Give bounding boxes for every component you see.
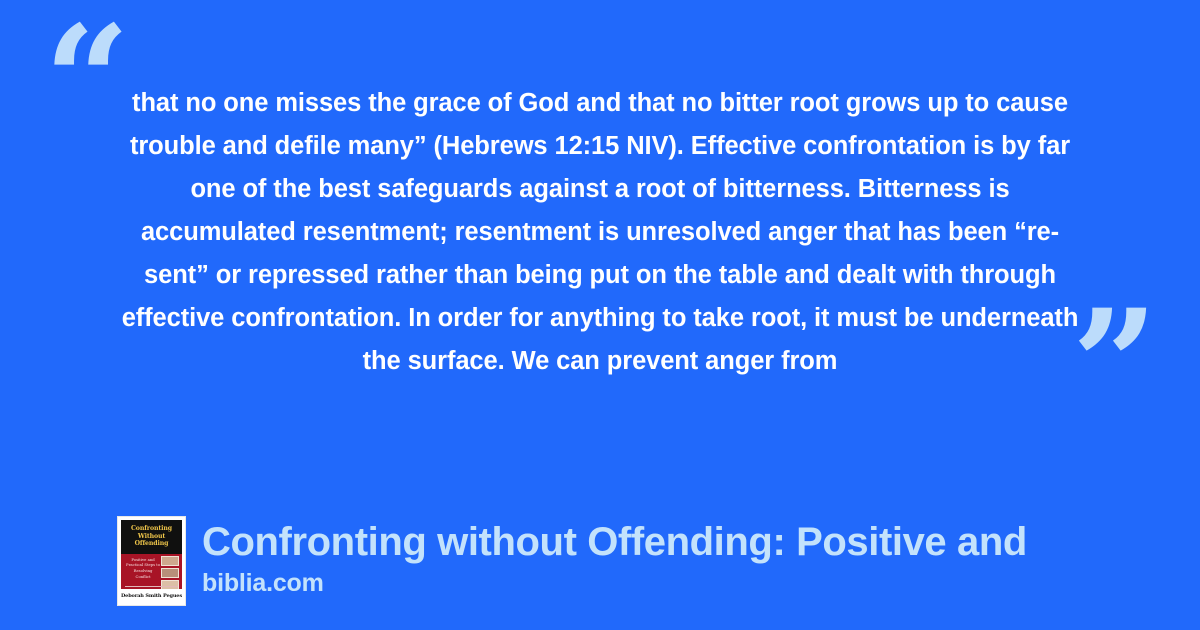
- book-cover-title-line-1: Confronting: [121, 525, 182, 533]
- book-cover-photo-strip: [161, 556, 179, 590]
- quote-card: “ that no one misses the grace of God an…: [0, 0, 1200, 630]
- book-cover-title: Confronting Without Offending: [121, 525, 182, 548]
- footer-attribution: Confronting Without Offending Positive a…: [117, 516, 1027, 606]
- book-cover-divider: [125, 586, 179, 587]
- book-title: Confronting without Offending: Positive …: [202, 518, 1027, 566]
- quote-block: that no one misses the grace of God and …: [112, 82, 1088, 383]
- book-cover-title-line-3: Offending: [121, 540, 182, 548]
- book-cover-author: Deborah Smith Pegues: [121, 593, 182, 599]
- book-cover-photo: [161, 568, 179, 578]
- site-name: biblia.com: [202, 568, 1027, 598]
- closing-quote-mark-icon: ”: [1072, 290, 1158, 440]
- quote-text: that no one misses the grace of God and …: [112, 82, 1088, 383]
- book-cover-thumbnail: Confronting Without Offending Positive a…: [117, 516, 186, 606]
- footer-text-group: Confronting without Offending: Positive …: [202, 516, 1027, 598]
- book-cover-subtitle: Positive and Practical Steps to Resolvin…: [126, 557, 160, 579]
- book-cover-photo: [161, 556, 179, 566]
- book-cover-title-line-2: Without: [121, 533, 182, 541]
- book-cover-author-band: Deborah Smith Pegues: [121, 589, 182, 602]
- book-cover-art: Confronting Without Offending Positive a…: [121, 520, 182, 602]
